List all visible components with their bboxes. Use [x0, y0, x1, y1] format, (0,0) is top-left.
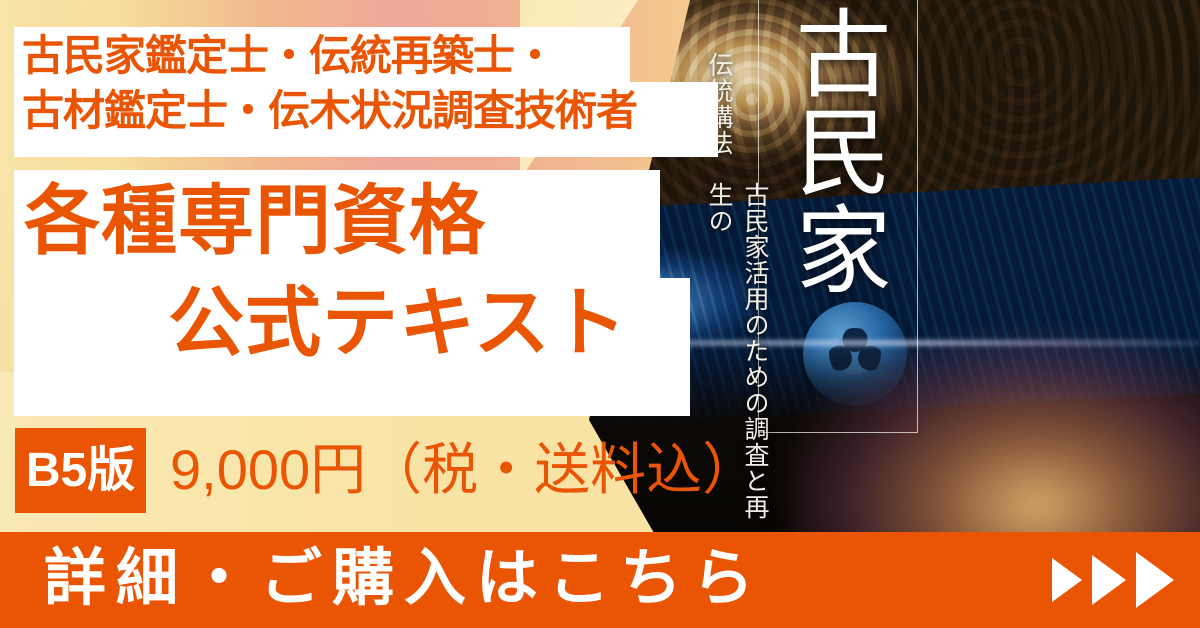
size-badge-label: B5版	[26, 447, 135, 495]
cta-arrow-group	[1052, 552, 1174, 608]
cta-bar[interactable]: 詳細・ご購入はこちら	[0, 532, 1200, 628]
size-badge: B5版	[15, 428, 146, 513]
triangle-right-icon	[1092, 555, 1126, 605]
promo-banner: 古民家 伝統構法 古民家活用のための調査と再生の 古民家鑑定士・伝統再築士・ 古…	[0, 0, 1200, 628]
headline-line-1: 各種専門資格	[24, 184, 486, 260]
book-cover-title: 古民家	[772, 4, 902, 424]
price-text: 9,000円（税・送料込）	[170, 434, 758, 507]
triangle-right-icon	[1136, 552, 1174, 608]
triangle-right-icon	[1052, 558, 1082, 602]
qualifications-text: 古民家鑑定士・伝統再築士・ 古材鑑定士・伝木状況調査技術者	[22, 29, 722, 138]
headline-line-2: 公式テキスト	[168, 286, 628, 362]
cta-label: 詳細・ご購入はこちら	[44, 548, 764, 610]
